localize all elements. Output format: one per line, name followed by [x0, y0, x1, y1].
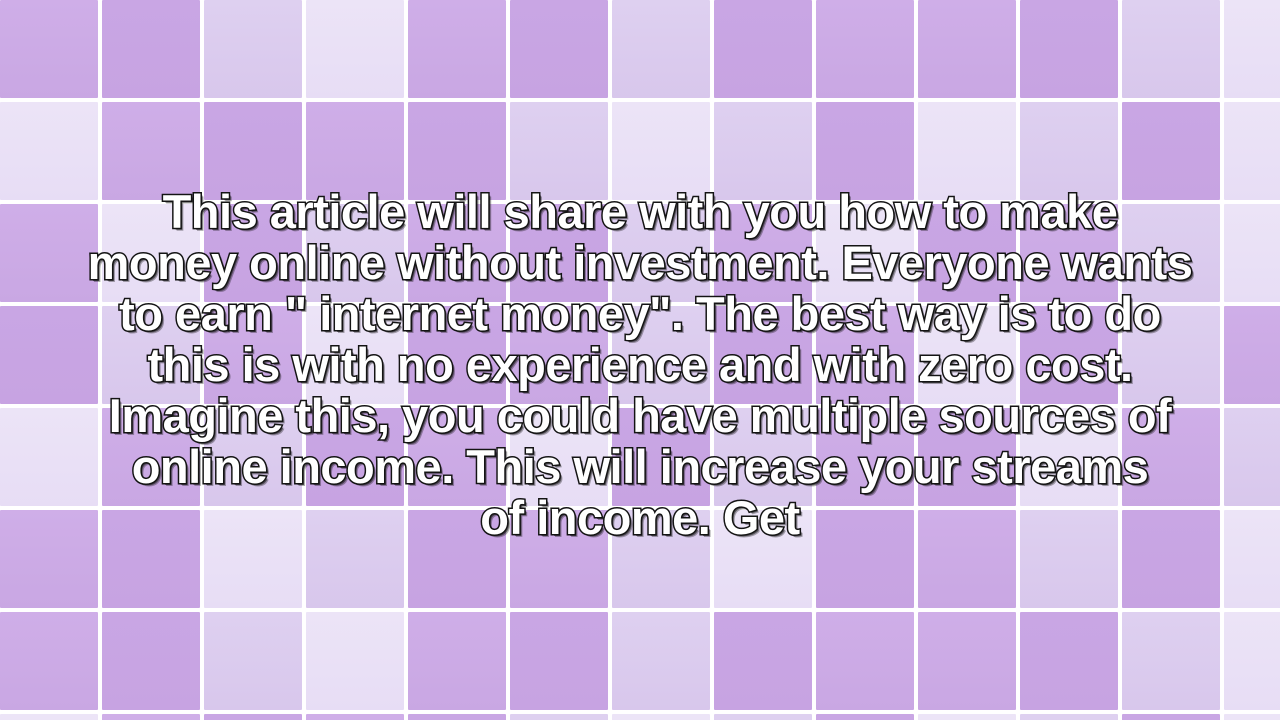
- background-tile: [1122, 714, 1220, 720]
- background-tile: [408, 102, 506, 200]
- background-tile: [204, 0, 302, 98]
- background-tile: [816, 408, 914, 506]
- background-tile: [510, 102, 608, 200]
- background-tile: [1122, 306, 1220, 404]
- background-tile: [1020, 510, 1118, 608]
- quote-card: This article will share with you how to …: [0, 0, 1280, 720]
- background-tile: [1122, 204, 1220, 302]
- background-tile: [1122, 102, 1220, 200]
- background-tile: [918, 408, 1016, 506]
- background-tile: [408, 714, 506, 720]
- background-tile: [102, 714, 200, 720]
- background-tile: [102, 0, 200, 98]
- background-tile: [918, 510, 1016, 608]
- background-tile: [408, 0, 506, 98]
- background-tile: [714, 0, 812, 98]
- background-tile: [0, 408, 98, 506]
- background-tile: [204, 102, 302, 200]
- background-tile: [1020, 714, 1118, 720]
- background-tile: [408, 408, 506, 506]
- background-tile: [612, 612, 710, 710]
- background-tile: [306, 306, 404, 404]
- background-tile: [510, 204, 608, 302]
- background-tile: [102, 408, 200, 506]
- background-tile: [306, 510, 404, 608]
- background-tile: [1224, 714, 1280, 720]
- background-tile: [1122, 0, 1220, 98]
- background-tile: [0, 306, 98, 404]
- background-tile: [1122, 612, 1220, 710]
- background-tile: [612, 510, 710, 608]
- background-tile: [816, 510, 914, 608]
- background-tile: [1224, 408, 1280, 506]
- background-tile: [408, 612, 506, 710]
- background-tile: [408, 306, 506, 404]
- background-tile: [1224, 612, 1280, 710]
- background-tile: [816, 0, 914, 98]
- background-tile: [510, 306, 608, 404]
- background-tile: [306, 408, 404, 506]
- background-tile: [204, 612, 302, 710]
- background-tile: [612, 306, 710, 404]
- background-tile: [1020, 204, 1118, 302]
- background-tile: [1020, 102, 1118, 200]
- background-tile: [0, 204, 98, 302]
- background-tile: [204, 714, 302, 720]
- background-tile: [1020, 0, 1118, 98]
- background-tile: [204, 510, 302, 608]
- background-tile: [1122, 408, 1220, 506]
- background-tile: [0, 102, 98, 200]
- tiled-background: [0, 0, 1280, 720]
- background-tile: [816, 306, 914, 404]
- background-tile: [918, 0, 1016, 98]
- background-tile: [612, 408, 710, 506]
- background-tile: [612, 0, 710, 98]
- background-tile: [510, 0, 608, 98]
- background-tile: [306, 204, 404, 302]
- background-tile: [1224, 204, 1280, 302]
- background-tile: [918, 714, 1016, 720]
- background-tile: [102, 510, 200, 608]
- background-tile: [816, 204, 914, 302]
- background-tile: [102, 306, 200, 404]
- background-tile: [714, 204, 812, 302]
- background-tile: [0, 0, 98, 98]
- background-tile: [612, 714, 710, 720]
- background-tile: [0, 612, 98, 710]
- background-tile: [510, 408, 608, 506]
- background-tile: [102, 612, 200, 710]
- background-tile: [918, 306, 1016, 404]
- background-tile: [204, 204, 302, 302]
- background-tile: [408, 510, 506, 608]
- background-tile: [510, 714, 608, 720]
- background-tile: [1224, 0, 1280, 98]
- background-tile: [918, 612, 1016, 710]
- background-tile: [714, 102, 812, 200]
- background-tile: [204, 306, 302, 404]
- background-tile: [612, 204, 710, 302]
- background-tile: [1122, 510, 1220, 608]
- background-tile: [918, 102, 1016, 200]
- background-tile: [0, 510, 98, 608]
- background-tile: [306, 0, 404, 98]
- background-tile: [612, 102, 710, 200]
- background-tile: [306, 102, 404, 200]
- background-tile: [102, 204, 200, 302]
- background-tile: [1224, 306, 1280, 404]
- background-tile: [510, 510, 608, 608]
- background-tile: [1020, 306, 1118, 404]
- background-tile: [816, 102, 914, 200]
- background-tile: [102, 102, 200, 200]
- background-tile: [714, 510, 812, 608]
- background-tile: [408, 204, 506, 302]
- background-tile: [918, 204, 1016, 302]
- background-tile: [204, 408, 302, 506]
- background-tile: [306, 714, 404, 720]
- background-tile: [816, 714, 914, 720]
- background-tile: [510, 612, 608, 710]
- background-tile: [0, 714, 98, 720]
- background-tile: [714, 714, 812, 720]
- background-tile: [1020, 612, 1118, 710]
- background-tile: [1020, 408, 1118, 506]
- background-tile: [1224, 510, 1280, 608]
- background-tile: [714, 408, 812, 506]
- background-tile: [306, 612, 404, 710]
- background-tile: [1224, 102, 1280, 200]
- background-tile: [714, 306, 812, 404]
- background-tile: [714, 612, 812, 710]
- background-tile: [816, 612, 914, 710]
